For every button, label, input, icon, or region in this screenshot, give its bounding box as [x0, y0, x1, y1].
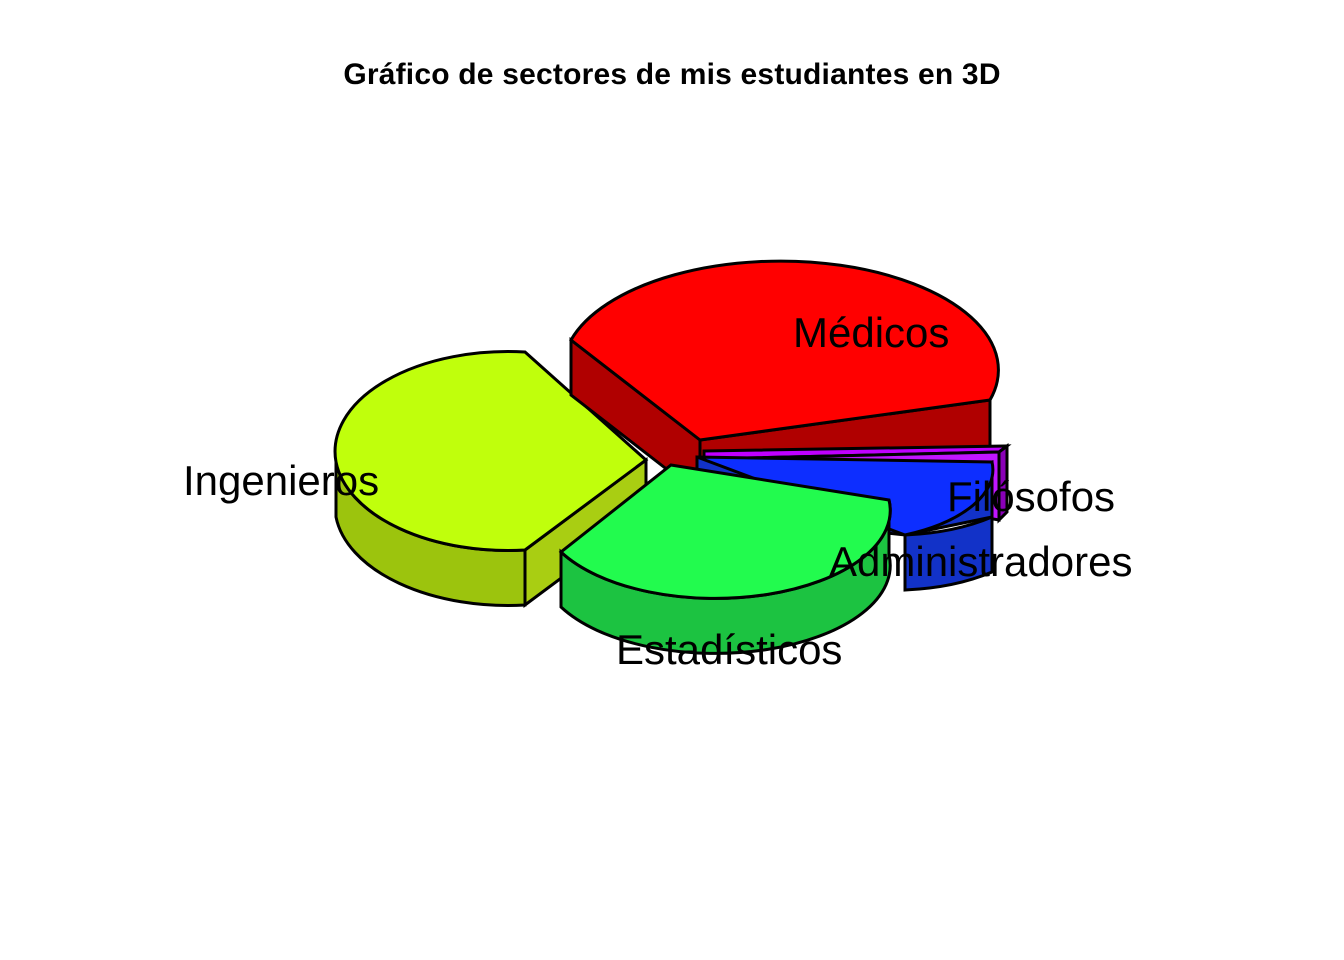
- pie-label-estadisticos: Estadísticos: [616, 629, 842, 671]
- pie-label-ingenieros: Ingenieros: [183, 460, 379, 502]
- pie-label-filosofos: Filósofos: [947, 476, 1115, 518]
- pie-label-administradores: Administradores: [829, 541, 1132, 583]
- pie-label-medicos: Médicos: [793, 312, 949, 354]
- chart-canvas: Gráfico de sectores de mis estudiantes e…: [0, 0, 1344, 960]
